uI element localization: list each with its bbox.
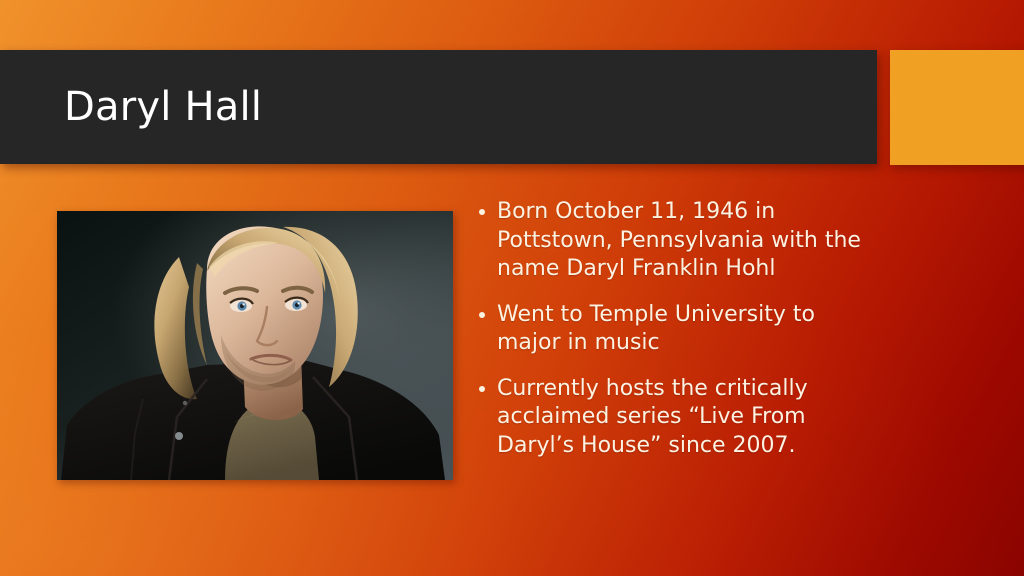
bullet-dot-icon xyxy=(479,312,485,318)
portrait-photo xyxy=(57,211,453,480)
list-item: Currently hosts the critically acclaimed… xyxy=(476,375,876,461)
list-item: Went to Temple University to major in mu… xyxy=(476,301,876,358)
bullet-dot-icon xyxy=(479,209,485,215)
amber-accent-rectangle xyxy=(890,50,1024,165)
bullet-dot-icon xyxy=(479,386,485,392)
list-item-text: Went to Temple University to major in mu… xyxy=(497,302,815,356)
bullet-list: Born October 11, 1946 in Pottstown, Penn… xyxy=(476,198,876,460)
list-item: Born October 11, 1946 in Pottstown, Penn… xyxy=(476,198,876,284)
list-item-text: Born October 11, 1946 in Pottstown, Penn… xyxy=(497,199,861,281)
title-band: Daryl Hall xyxy=(0,50,877,164)
presentation-slide: Daryl Hall xyxy=(0,0,1024,576)
portrait-photo-illustration xyxy=(57,211,453,480)
list-item-text: Currently hosts the critically acclaimed… xyxy=(497,376,808,458)
page-title: Daryl Hall xyxy=(64,87,262,127)
